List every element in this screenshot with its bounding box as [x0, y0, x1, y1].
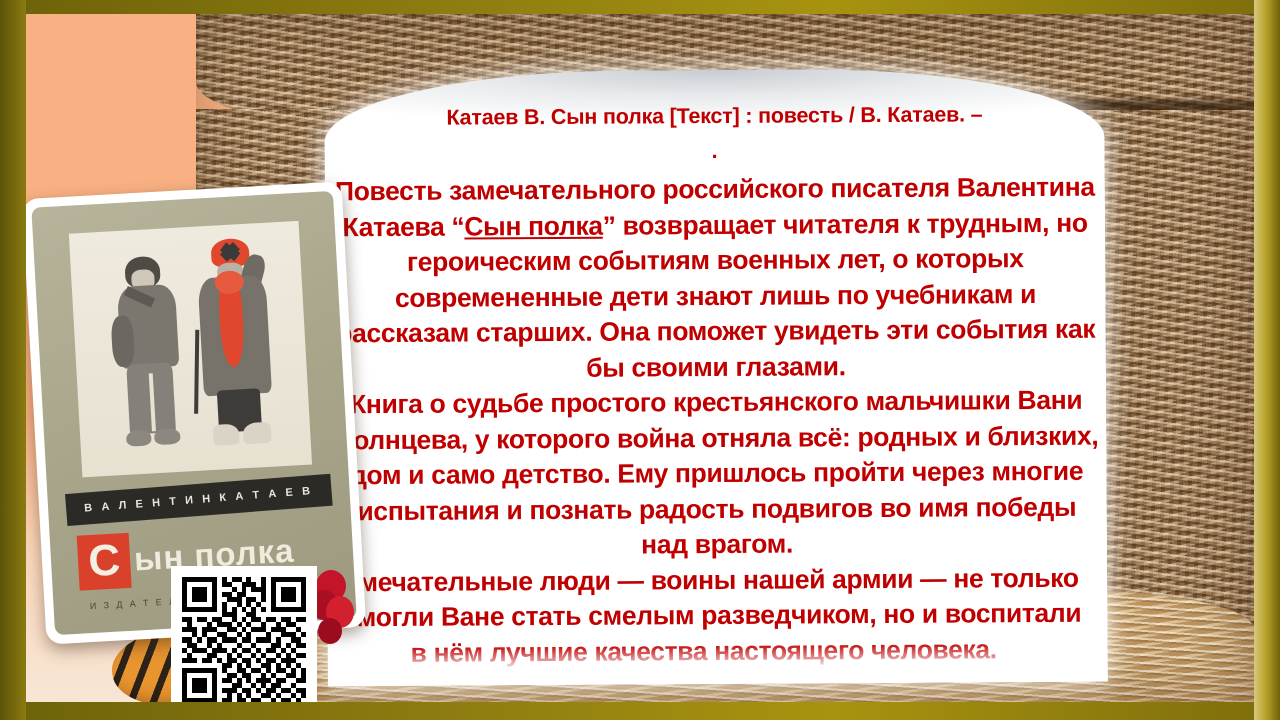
paragraph-2: Книга о судьбе простого крестьянского ма… — [334, 383, 1099, 565]
bibliographic-dot: . — [333, 132, 1097, 171]
illustration-boy-left — [109, 254, 189, 453]
annotation-text-block: Катаев В. Сын полка [Текст] : повесть / … — [324, 68, 1108, 687]
cover-author-band: В А Л Е Н Т И Н К А Т А Е В — [65, 473, 332, 525]
cover-title-cap: С — [87, 539, 121, 585]
bibliographic-record: Катаев В. Сын полка [Текст] : повесть / … — [332, 98, 1096, 135]
cover-title-cap-block: С — [77, 532, 132, 590]
qr-code-matrix — [182, 577, 306, 702]
slide-stage: Катаев В. Сын полка [Текст] : повесть / … — [26, 14, 1254, 702]
book-title-underlined: Сын полка — [464, 210, 603, 241]
panel-bottom-fade — [328, 642, 1108, 687]
frame-right-shade — [1254, 0, 1280, 720]
illustration-boy-right — [189, 237, 283, 451]
slide-canvas: Катаев В. Сын полка [Текст] : повесть / … — [0, 0, 1280, 720]
cover-author-text: В А Л Е Н Т И Н К А Т А Е В — [84, 485, 314, 515]
paragraph-1: Повесть замечательного российского писат… — [333, 170, 1098, 388]
annotation-panel: Катаев В. Сын полка [Текст] : повесть / … — [324, 68, 1108, 687]
qr-code-icon[interactable] — [171, 566, 317, 702]
cover-illustration — [69, 221, 312, 477]
frame-left-shade — [0, 0, 26, 720]
